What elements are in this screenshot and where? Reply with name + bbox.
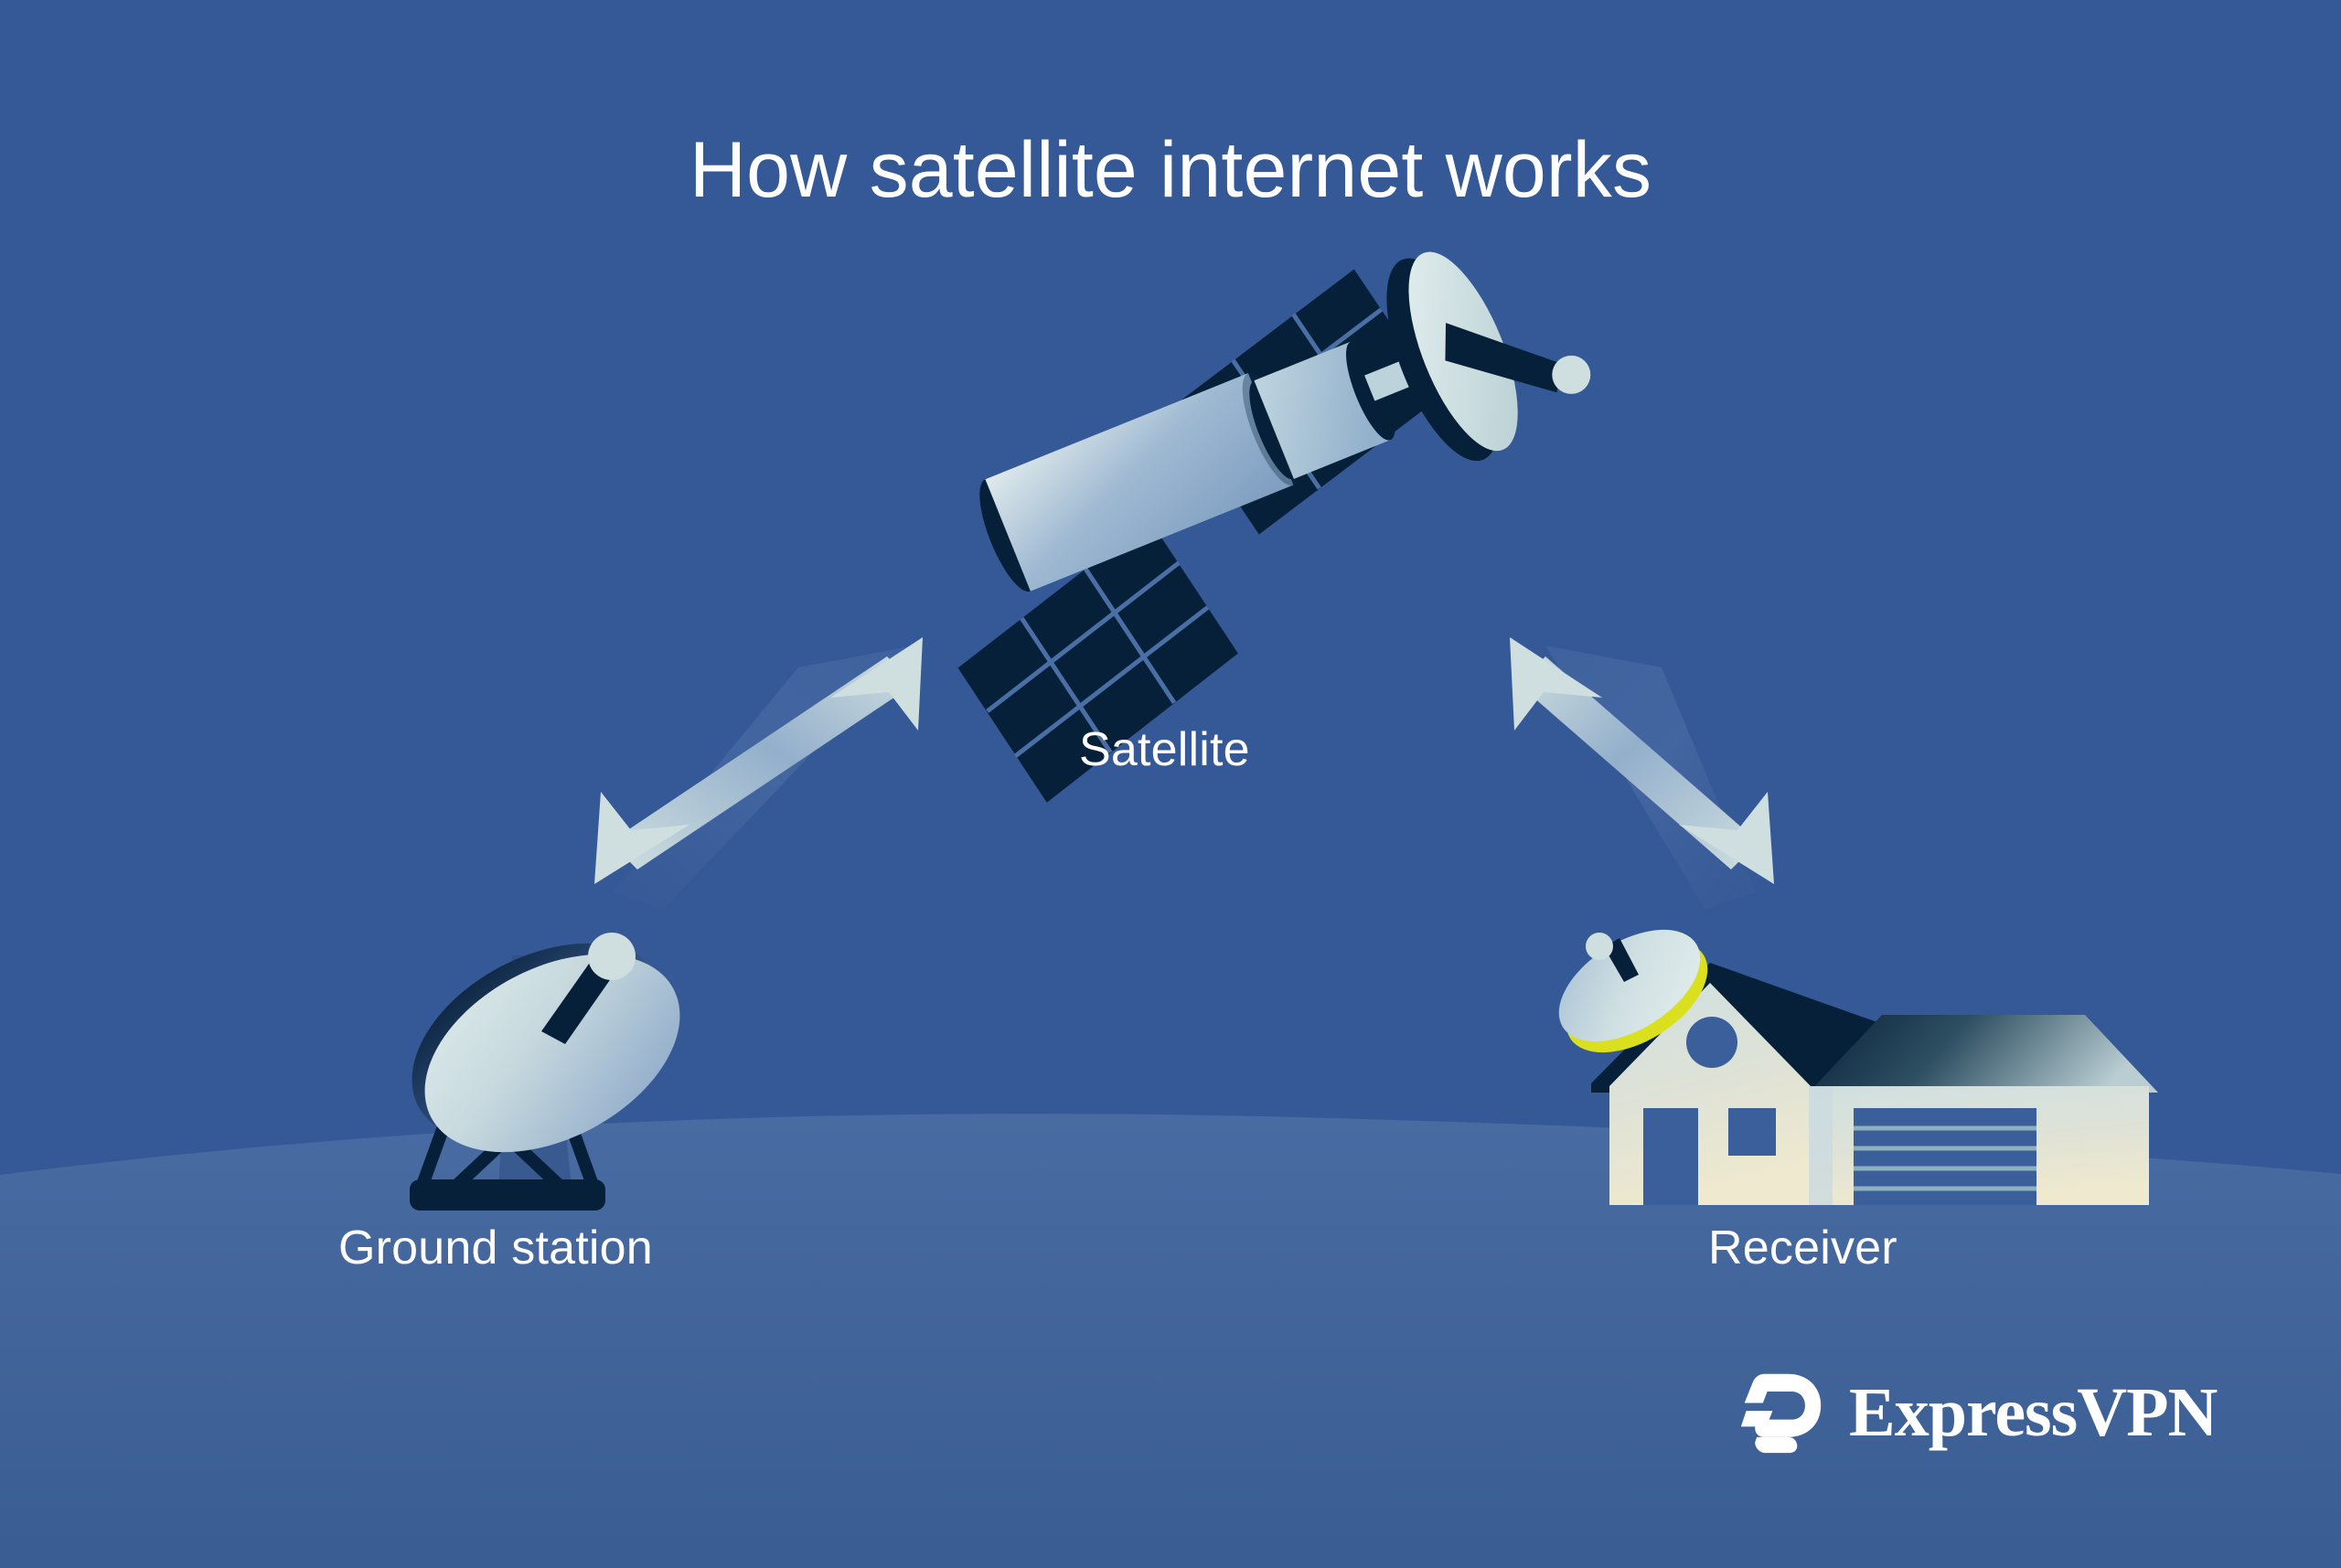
house-window — [1728, 1108, 1776, 1156]
receiver-label: Receiver — [1708, 1221, 1897, 1275]
illustration-svg — [0, 0, 2341, 1568]
expressvpn-e-logo-icon — [1737, 1369, 1825, 1456]
house-attic-window — [1686, 1017, 1737, 1068]
ground-station-base — [410, 1179, 605, 1211]
house-garage-door — [1854, 1108, 2036, 1205]
house-door — [1643, 1108, 1698, 1205]
infographic-canvas: How satellite internet works Satellite G… — [0, 0, 2341, 1568]
expressvpn-logo: ExpressVPN — [1737, 1362, 2213, 1463]
satellite-label: Satellite — [1079, 722, 1250, 777]
ground-station-label: Ground station — [338, 1221, 653, 1275]
page-title: How satellite internet works — [0, 131, 2341, 209]
house-dish-tip — [1586, 933, 1613, 960]
house-wall-seam — [1809, 1086, 1833, 1205]
expressvpn-wordmark: ExpressVPN — [1849, 1378, 2217, 1447]
